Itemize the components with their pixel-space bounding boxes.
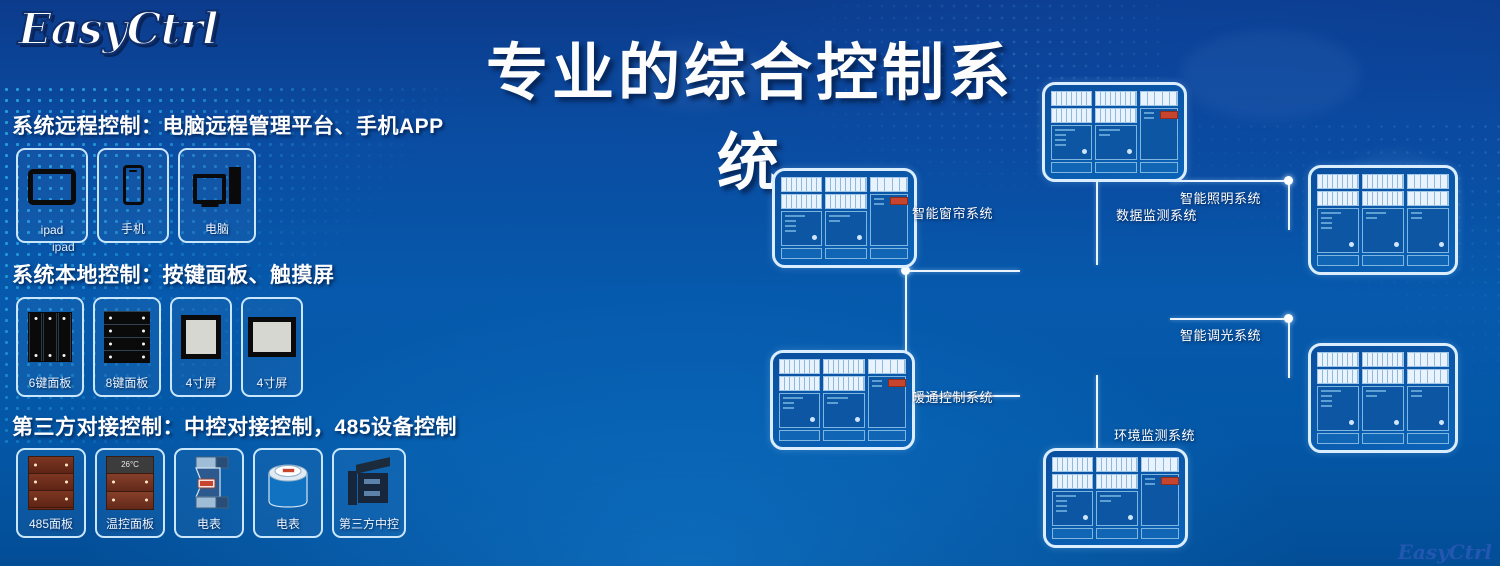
diagram-label-data: 数据监测系统 (1116, 205, 1197, 224)
wire-segment (905, 270, 1020, 272)
device-card-label: 温控面板 (106, 515, 154, 536)
device-card-label: 电表 (276, 515, 300, 536)
device-card-thirdparty-controller[interactable]: 第三方中控 (332, 448, 406, 538)
smartphone-icon (99, 150, 167, 220)
four-inch-screen-wide-icon (243, 299, 301, 374)
device-card-electric-meter[interactable]: 电表 (174, 448, 244, 538)
device-card-label: ipad (41, 223, 64, 241)
module-card-dimming[interactable] (1308, 343, 1458, 453)
device-card-label: 手机 (121, 220, 145, 241)
four-inch-screen-icon (172, 299, 230, 374)
device-card-4inch-screen-wide[interactable]: 4寸屏 (241, 297, 303, 397)
module-card-data[interactable] (1042, 82, 1187, 182)
system-topology-diagram: 智能窗帘系统 数据监测系统 智能照明系统 暖通控制系统 环境监测系统 智能调光系… (740, 60, 1500, 560)
section-title-thirdparty-control: 第三方对接控制：中控对接控制，485设备控制 (12, 411, 457, 441)
third-party-controller-icon (334, 450, 404, 515)
diagram-label-environment: 环境监测系统 (1114, 425, 1195, 444)
device-card-label: 电表 (197, 515, 221, 536)
wire-node (1284, 314, 1293, 323)
module-indicator (1160, 111, 1178, 119)
device-card-label: 电脑 (205, 220, 229, 241)
module-card-curtain[interactable] (772, 168, 917, 268)
module-indicator (1161, 477, 1179, 485)
thermostat-display: 26°C (107, 457, 153, 473)
device-card-label: 第三方中控 (339, 515, 399, 536)
remote-control-card-row: ipad 手机 电脑 (16, 148, 256, 243)
thirdparty-card-row: 485面板 26°C 温控面板 (16, 448, 406, 538)
device-card-ipad[interactable]: ipad (16, 148, 88, 243)
poster-canvas: EasyCtrl 专业的综合控制系统 系统远程控制：电脑远程管理平台、手机APP… (0, 0, 1500, 566)
device-card-6key-panel[interactable]: 6键面板 (16, 297, 84, 397)
thermostat-panel-icon: 26°C (97, 450, 163, 515)
electric-meter-icon (176, 450, 242, 515)
six-key-panel-icon (18, 299, 82, 374)
round-meter-icon (255, 450, 321, 515)
module-card-lighting[interactable] (1308, 165, 1458, 275)
device-card-round-meter[interactable]: 电表 (253, 448, 323, 538)
eight-key-panel-icon (95, 299, 159, 374)
device-card-label: 8键面板 (106, 374, 149, 395)
diagram-label-hvac: 暖通控制系统 (912, 387, 993, 406)
watermark: EasyCtrl (1398, 540, 1492, 564)
diagram-label-dimming: 智能调光系统 (1180, 325, 1261, 344)
device-card-label: 4寸屏 (257, 374, 288, 395)
device-card-label: 6键面板 (29, 374, 72, 395)
device-card-label: 485面板 (29, 515, 73, 536)
wire-node (1284, 176, 1293, 185)
module-indicator (890, 197, 908, 205)
device-card-phone[interactable]: 手机 (97, 148, 169, 243)
wire-segment (1170, 318, 1290, 320)
module-card-hvac[interactable] (770, 350, 915, 450)
desktop-computer-icon (180, 150, 254, 220)
ipad-extra-caption: ipad (52, 240, 75, 254)
device-card-4inch-screen[interactable]: 4寸屏 (170, 297, 232, 397)
module-card-environment[interactable] (1043, 448, 1188, 548)
module-indicator (888, 379, 906, 387)
tablet-icon (18, 150, 86, 223)
device-card-rs485-panel[interactable]: 485面板 (16, 448, 86, 538)
rs485-panel-icon (18, 450, 84, 515)
device-card-label: 4寸屏 (186, 374, 217, 395)
device-card-computer[interactable]: 电脑 (178, 148, 256, 243)
wire-segment (1288, 180, 1290, 230)
section-title-local-control: 系统本地控制：按键面板、触摸屏 (12, 259, 335, 289)
diagram-label-curtain: 智能窗帘系统 (912, 203, 993, 222)
device-card-8key-panel[interactable]: 8键面板 (93, 297, 161, 397)
brand-logo: EasyCtrl (18, 4, 218, 55)
wire-segment (1170, 180, 1290, 182)
wire-segment (1288, 318, 1290, 378)
device-card-thermostat-panel[interactable]: 26°C 温控面板 (95, 448, 165, 538)
local-control-card-row: 6键面板 8键面板 4寸屏 4寸屏 (16, 297, 303, 397)
section-title-remote-control: 系统远程控制：电脑远程管理平台、手机APP (12, 110, 444, 140)
diagram-label-lighting: 智能照明系统 (1180, 188, 1261, 207)
